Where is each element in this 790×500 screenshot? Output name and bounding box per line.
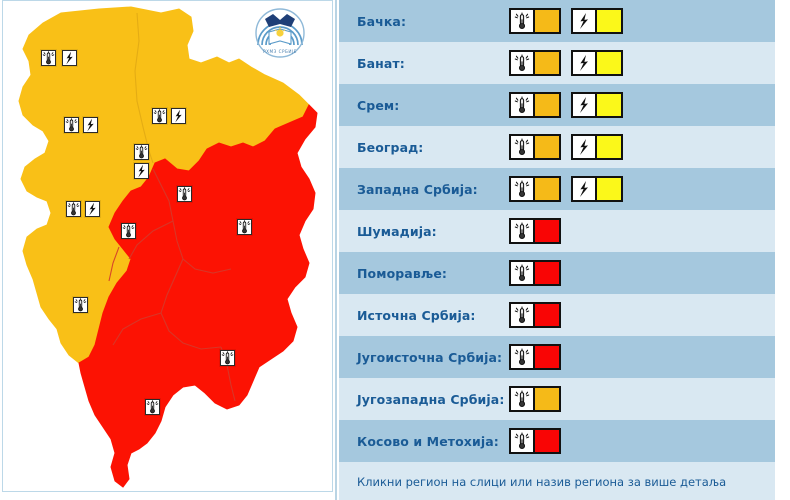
lightning-icon bbox=[573, 94, 597, 116]
alert-level-swatch bbox=[597, 94, 621, 116]
alert-badge-thermometer[interactable] bbox=[509, 176, 561, 202]
alert-badge-thermometer[interactable] bbox=[509, 386, 561, 412]
thermometer-icon bbox=[511, 94, 535, 116]
map-badge-backa-lightning-icon[interactable] bbox=[62, 50, 77, 66]
region-name-label[interactable]: Косово и Метохија: bbox=[339, 434, 509, 449]
thermometer-icon bbox=[511, 388, 535, 410]
alert-badge-lightning[interactable] bbox=[571, 176, 623, 202]
region-row[interactable]: Косово и Метохија: bbox=[339, 420, 775, 462]
map-badge-zapadna-srbija-lightning-icon[interactable] bbox=[85, 201, 100, 217]
alert-badges bbox=[509, 344, 561, 370]
lightning-icon bbox=[135, 164, 148, 178]
region-name-label[interactable]: Западна Србија: bbox=[339, 182, 509, 197]
alert-badge-thermometer[interactable] bbox=[509, 218, 561, 244]
region-row[interactable]: Поморавље: bbox=[339, 252, 775, 294]
lightning-icon bbox=[84, 118, 97, 132]
map-badge-pomoravlje-thermometer-icon[interactable] bbox=[237, 219, 252, 235]
region-row[interactable]: Београд: bbox=[339, 126, 775, 168]
alert-badges bbox=[509, 50, 623, 76]
lightning-icon bbox=[63, 51, 76, 65]
thermometer-icon bbox=[178, 187, 191, 201]
lightning-icon bbox=[86, 202, 99, 216]
alert-badges bbox=[509, 8, 623, 34]
region-row[interactable]: Западна Србија: bbox=[339, 168, 775, 210]
thermometer-icon bbox=[511, 178, 535, 200]
alert-badge-thermometer[interactable] bbox=[509, 428, 561, 454]
map-badge-banat-thermometer-icon[interactable] bbox=[152, 108, 167, 124]
map-badge-srem-thermometer-icon[interactable] bbox=[64, 117, 79, 133]
lightning-icon bbox=[573, 10, 597, 32]
thermometer-icon bbox=[67, 202, 80, 216]
alert-level-swatch bbox=[535, 304, 559, 326]
alert-level-swatch bbox=[535, 10, 559, 32]
thermometer-icon bbox=[65, 118, 78, 132]
rhmz-logo: РХМЗ СРБИЈЕ bbox=[255, 8, 305, 58]
region-name-label[interactable]: Поморавље: bbox=[339, 266, 509, 281]
thermometer-icon bbox=[511, 346, 535, 368]
region-name-label[interactable]: Југоисточна Србија: bbox=[339, 350, 509, 365]
region-name-label[interactable]: Банат: bbox=[339, 56, 509, 71]
region-alert-list: Бачка:Банат:Срем:Београд:Западна Србија:… bbox=[339, 0, 790, 500]
region-row[interactable]: Бачка: bbox=[339, 0, 775, 42]
alert-badges bbox=[509, 386, 561, 412]
alert-badges bbox=[509, 260, 561, 286]
thermometer-icon bbox=[511, 136, 535, 158]
alert-badge-thermometer[interactable] bbox=[509, 134, 561, 160]
lightning-icon bbox=[573, 136, 597, 158]
region-name-label[interactable]: Југозападна Србија: bbox=[339, 392, 509, 407]
thermometer-icon bbox=[42, 51, 55, 65]
alert-badge-lightning[interactable] bbox=[571, 134, 623, 160]
alert-badges bbox=[509, 218, 561, 244]
alert-level-swatch bbox=[535, 346, 559, 368]
alert-level-swatch bbox=[535, 388, 559, 410]
alert-badge-thermometer[interactable] bbox=[509, 92, 561, 118]
region-row[interactable]: Источна Србија: bbox=[339, 294, 775, 336]
map-badge-srem-lightning-icon[interactable] bbox=[83, 117, 98, 133]
alert-badges bbox=[509, 134, 623, 160]
alert-badge-lightning[interactable] bbox=[571, 92, 623, 118]
alert-level-swatch bbox=[535, 136, 559, 158]
thermometer-icon bbox=[238, 220, 251, 234]
alert-level-swatch bbox=[535, 430, 559, 452]
serbia-alert-map[interactable]: РХМЗ СРБИЈЕ bbox=[3, 1, 333, 492]
alert-badge-thermometer[interactable] bbox=[509, 50, 561, 76]
alert-badge-lightning[interactable] bbox=[571, 50, 623, 76]
thermometer-icon bbox=[122, 224, 135, 238]
region-name-label[interactable]: Срем: bbox=[339, 98, 509, 113]
alert-badge-thermometer[interactable] bbox=[509, 344, 561, 370]
region-row[interactable]: Југоисточна Србија: bbox=[339, 336, 775, 378]
alert-badges bbox=[509, 428, 561, 454]
map-badge-kosovo-thermometer-icon[interactable] bbox=[145, 399, 160, 415]
thermometer-icon bbox=[74, 298, 87, 312]
map-badge-backa-thermometer-icon[interactable] bbox=[41, 50, 56, 66]
thermometer-icon bbox=[511, 220, 535, 242]
region-row[interactable]: Срем: bbox=[339, 84, 775, 126]
alert-badge-thermometer[interactable] bbox=[509, 302, 561, 328]
thermometer-icon bbox=[511, 304, 535, 326]
thermometer-icon bbox=[153, 109, 166, 123]
alert-level-swatch bbox=[535, 262, 559, 284]
lightning-icon bbox=[573, 178, 597, 200]
region-name-label[interactable]: Шумадија: bbox=[339, 224, 509, 239]
list-footer: Кликни регион на слици или назив региона… bbox=[339, 462, 775, 500]
map-badge-zapadna-srbija-thermometer-icon[interactable] bbox=[66, 201, 81, 217]
alert-level-swatch bbox=[597, 178, 621, 200]
map-badge-jugoistocna-thermometer-icon[interactable] bbox=[220, 350, 235, 366]
alert-badges bbox=[509, 176, 623, 202]
lightning-icon bbox=[172, 109, 185, 123]
thermometer-icon bbox=[511, 430, 535, 452]
alert-badge-thermometer[interactable] bbox=[509, 8, 561, 34]
region-row[interactable]: Шумадија: bbox=[339, 210, 775, 252]
map-panel: РХМЗ СРБИЈЕ bbox=[0, 0, 337, 500]
alert-level-swatch bbox=[535, 178, 559, 200]
alert-level-swatch bbox=[535, 220, 559, 242]
map-badge-beograd-thermometer-icon[interactable] bbox=[134, 144, 149, 160]
thermometer-icon bbox=[146, 400, 159, 414]
map-badge-beograd-lightning-icon[interactable] bbox=[134, 163, 149, 179]
alert-level-swatch bbox=[535, 52, 559, 74]
region-name-label[interactable]: Бачка: bbox=[339, 14, 509, 29]
map-badge-banat-lightning-icon[interactable] bbox=[171, 108, 186, 124]
thermometer-icon bbox=[221, 351, 234, 365]
alert-badges bbox=[509, 92, 623, 118]
region-row[interactable]: Банат: bbox=[339, 42, 775, 84]
region-rows: Бачка:Банат:Срем:Београд:Западна Србија:… bbox=[339, 0, 790, 462]
alert-level-swatch bbox=[597, 10, 621, 32]
alert-badges bbox=[509, 302, 561, 328]
alert-level-swatch bbox=[597, 52, 621, 74]
lightning-icon bbox=[573, 52, 597, 74]
logo-caption: РХМЗ СРБИЈЕ bbox=[263, 49, 297, 54]
thermometer-icon bbox=[511, 262, 535, 284]
list-footer-text: Кликни регион на слици или назив региона… bbox=[339, 475, 726, 489]
region-name-label[interactable]: Београд: bbox=[339, 140, 509, 155]
alert-badge-thermometer[interactable] bbox=[509, 260, 561, 286]
thermometer-icon bbox=[511, 52, 535, 74]
alert-level-swatch bbox=[535, 94, 559, 116]
alert-level-swatch bbox=[597, 136, 621, 158]
map-frame: РХМЗ СРБИЈЕ bbox=[2, 0, 333, 492]
alert-badge-lightning[interactable] bbox=[571, 8, 623, 34]
map-badge-jugozapadna-thermometer-icon[interactable] bbox=[73, 297, 88, 313]
map-badge-istocna-srbija-thermometer-icon[interactable] bbox=[121, 223, 136, 239]
region-name-label[interactable]: Источна Србија: bbox=[339, 308, 509, 323]
thermometer-icon bbox=[135, 145, 148, 159]
thermometer-icon bbox=[511, 10, 535, 32]
weather-alert-page: РХМЗ СРБИЈЕ Бачка:Банат:Срем:Београд:Зап… bbox=[0, 0, 790, 500]
map-badge-sumadija-thermometer-icon[interactable] bbox=[177, 186, 192, 202]
region-row[interactable]: Југозападна Србија: bbox=[339, 378, 775, 420]
